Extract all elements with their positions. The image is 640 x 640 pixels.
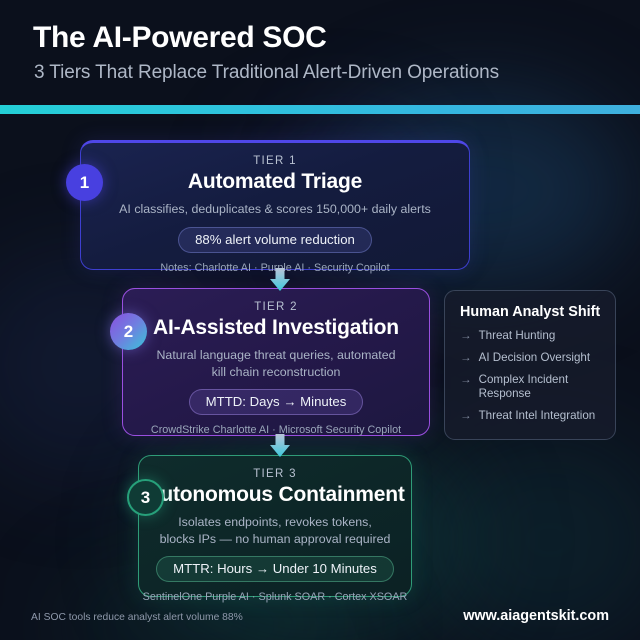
tier-card-3[interactable]: TIER 3 Autonomous Containment Isolates e… (138, 455, 412, 597)
footer-website[interactable]: www.aiagentskit.com (463, 608, 609, 624)
panel-list-item: → AI Decision Oversight (460, 351, 601, 366)
tier-label-2: TIER 2 (254, 301, 298, 313)
connector-arrow-tier1-to-tier2 (266, 268, 294, 292)
tier-badge-1: 1 (66, 164, 103, 201)
panel-list-item: → Complex Incident Response (460, 373, 601, 403)
accent-bar (0, 105, 640, 114)
header: The AI-Powered SOC 3 Tiers That Replace … (0, 0, 640, 104)
connector-arrow-tier2-to-tier3 (266, 434, 294, 458)
tier-metric-chip-3: MTTR: Hours → Under 10 Minutes (156, 556, 394, 582)
page-title: The AI-Powered SOC (33, 21, 327, 55)
panel-item-label: Threat Intel Integration (479, 409, 596, 424)
tier-metric-chip-1: 88% alert volume reduction (178, 227, 372, 253)
tier-title-2: AI-Assisted Investigation (153, 316, 399, 340)
tier-badge-2: 2 (110, 313, 147, 350)
arrow-right-icon: → (460, 329, 472, 344)
tier-title-1: Automated Triage (188, 170, 362, 194)
panel-title: Human Analyst Shift (460, 304, 601, 320)
page-subtitle: 3 Tiers That Replace Traditional Alert-D… (34, 62, 499, 84)
human-analyst-shift-panel: Human Analyst Shift → Threat Hunting → A… (444, 290, 616, 440)
infographic-canvas: The AI-Powered SOC 3 Tiers That Replace … (0, 0, 640, 640)
tier-metric-chip-2: MTTD: Days → Minutes (189, 389, 364, 415)
tier-description-1: AI classifies, deduplicates & scores 150… (110, 201, 440, 218)
tier-label-3: TIER 3 (253, 468, 297, 480)
tier-title-3: Autonomous Containment (145, 483, 404, 507)
panel-item-label: Complex Incident Response (479, 373, 601, 403)
arrow-right-icon: → (460, 409, 472, 424)
panel-item-label: Threat Hunting (479, 329, 556, 344)
tier-card-1[interactable]: TIER 1 Automated Triage AI classifies, d… (80, 140, 470, 270)
panel-list-item: → Threat Intel Integration (460, 409, 601, 424)
tier-card-2[interactable]: TIER 2 AI-Assisted Investigation Natural… (122, 288, 430, 436)
tier-notes-3: SentinelOne Purple AI · Splunk SOAR · Co… (143, 591, 408, 603)
tier-description-2: Natural language threat queries, automat… (151, 347, 401, 380)
panel-list-item: → Threat Hunting (460, 329, 601, 344)
tier-badge-3: 3 (127, 479, 164, 516)
arrow-right-icon: → (460, 351, 472, 366)
tier-description-3: Isolates endpoints, revokes tokens, bloc… (159, 514, 391, 547)
tier-label-1: TIER 1 (253, 155, 297, 167)
footer-note: AI SOC tools reduce analyst alert volume… (31, 612, 243, 623)
arrow-right-icon: → (460, 373, 472, 388)
panel-item-label: AI Decision Oversight (479, 351, 590, 366)
